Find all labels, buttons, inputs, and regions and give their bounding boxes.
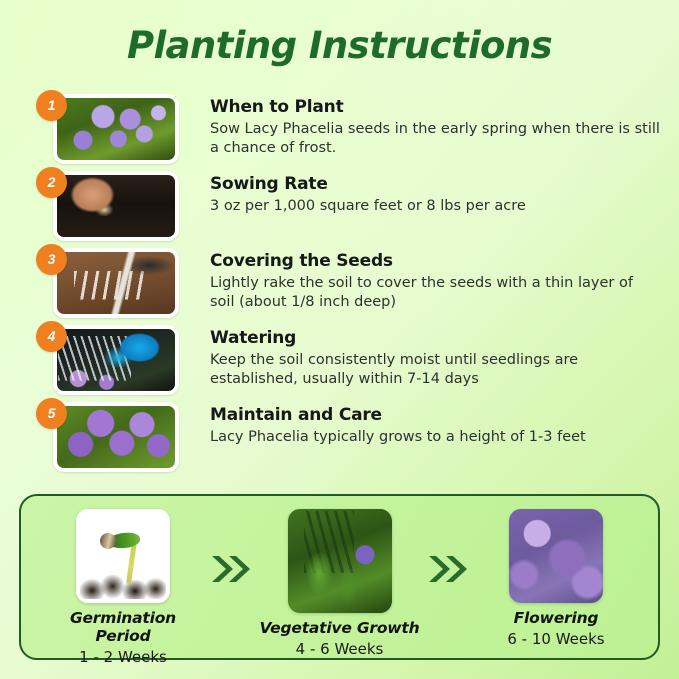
timeline-stage-label: Germination Period: [43, 609, 203, 645]
step-description: Sow Lacy Phacelia seeds in the early spr…: [210, 120, 662, 158]
timeline-stage-flowering: Flowering 6 - 10 Weeks: [476, 509, 636, 648]
step-item: 2 Sowing Rate 3 oz per 1,000 square feet…: [0, 171, 679, 248]
step-thumbnail-frame: [53, 171, 179, 241]
soil-art: [80, 571, 166, 599]
step-description: Lacy Phacelia typically grows to a heigh…: [210, 428, 662, 447]
growth-timeline-panel: Germination Period 1 - 2 Weeks Vegetativ…: [19, 494, 660, 660]
double-chevron-right-icon: [208, 551, 254, 587]
seed-image-art: [76, 509, 170, 603]
step-item: 4 Watering Keep the soil consistently mo…: [0, 325, 679, 402]
step-description: 3 oz per 1,000 square feet or 8 lbs per …: [210, 197, 662, 216]
step-text-block: When to Plant Sow Lacy Phacelia seeds in…: [210, 96, 662, 158]
timeline-stage-vegetative: Vegetative Growth 4 - 6 Weeks: [260, 509, 420, 658]
step-number-badge: 1: [36, 90, 67, 121]
vegetative-image-art: [288, 509, 392, 613]
phacelia-closeup-photo: [57, 406, 175, 468]
step-thumbnail-frame: [53, 94, 179, 164]
step-number-badge: 4: [36, 321, 67, 352]
step-item: 3 Covering the Seeds Lightly rake the so…: [0, 248, 679, 325]
step-title: Covering the Seeds: [210, 250, 662, 272]
timeline-stage-duration: 1 - 2 Weeks: [43, 648, 203, 666]
phacelia-image-art: [57, 406, 175, 468]
step-title: When to Plant: [210, 96, 662, 118]
step-title: Watering: [210, 327, 662, 349]
double-chevron-right-icon: [425, 551, 471, 587]
page-title: Planting Instructions: [0, 24, 679, 68]
steps-list: 1 When to Plant Sow Lacy Phacelia seeds …: [0, 94, 679, 479]
sowing-image-art: [57, 175, 175, 237]
germinating-seed-photo: [76, 509, 170, 603]
watering-can-photo: [57, 329, 175, 391]
step-item: 5 Maintain and Care Lacy Phacelia typica…: [0, 402, 679, 479]
timeline-stage-label: Flowering: [476, 609, 636, 627]
step-thumbnail-frame: [53, 248, 179, 318]
step-number-badge: 5: [36, 398, 67, 429]
step-text-block: Sowing Rate 3 oz per 1,000 square feet o…: [210, 173, 662, 216]
timeline-stage-label: Vegetative Growth: [260, 619, 420, 637]
hand-sowing-seeds-photo: [57, 175, 175, 237]
phacelia-flowers-photo: [57, 98, 175, 160]
step-text-block: Covering the Seeds Lightly rake the soil…: [210, 250, 662, 312]
step-text-block: Maintain and Care Lacy Phacelia typicall…: [210, 404, 662, 447]
step-thumbnail-frame: [53, 402, 179, 472]
timeline-stage-germination: Germination Period 1 - 2 Weeks: [43, 509, 203, 666]
rake-image-art: [57, 252, 175, 314]
step-number-badge: 3: [36, 244, 67, 275]
timeline-stage-duration: 6 - 10 Weeks: [476, 630, 636, 648]
flowers-image-art: [57, 98, 175, 160]
timeline-stage-duration: 4 - 6 Weeks: [260, 640, 420, 658]
step-number-badge: 2: [36, 167, 67, 198]
step-description: Lightly rake the soil to cover the seeds…: [210, 274, 662, 312]
purple-bloom-photo: [509, 509, 603, 603]
rake-on-soil-photo: [57, 252, 175, 314]
bloom-image-art: [509, 509, 603, 603]
step-description: Keep the soil consistently moist until s…: [210, 351, 662, 389]
step-title: Maintain and Care: [210, 404, 662, 426]
watering-image-art: [57, 329, 175, 391]
step-text-block: Watering Keep the soil consistently mois…: [210, 327, 662, 389]
step-thumbnail-frame: [53, 325, 179, 395]
infographic-page: Planting Instructions 1 When to Plant So…: [0, 0, 679, 679]
leafy-plant-photo: [288, 509, 392, 613]
step-title: Sowing Rate: [210, 173, 662, 195]
step-item: 1 When to Plant Sow Lacy Phacelia seeds …: [0, 94, 679, 171]
